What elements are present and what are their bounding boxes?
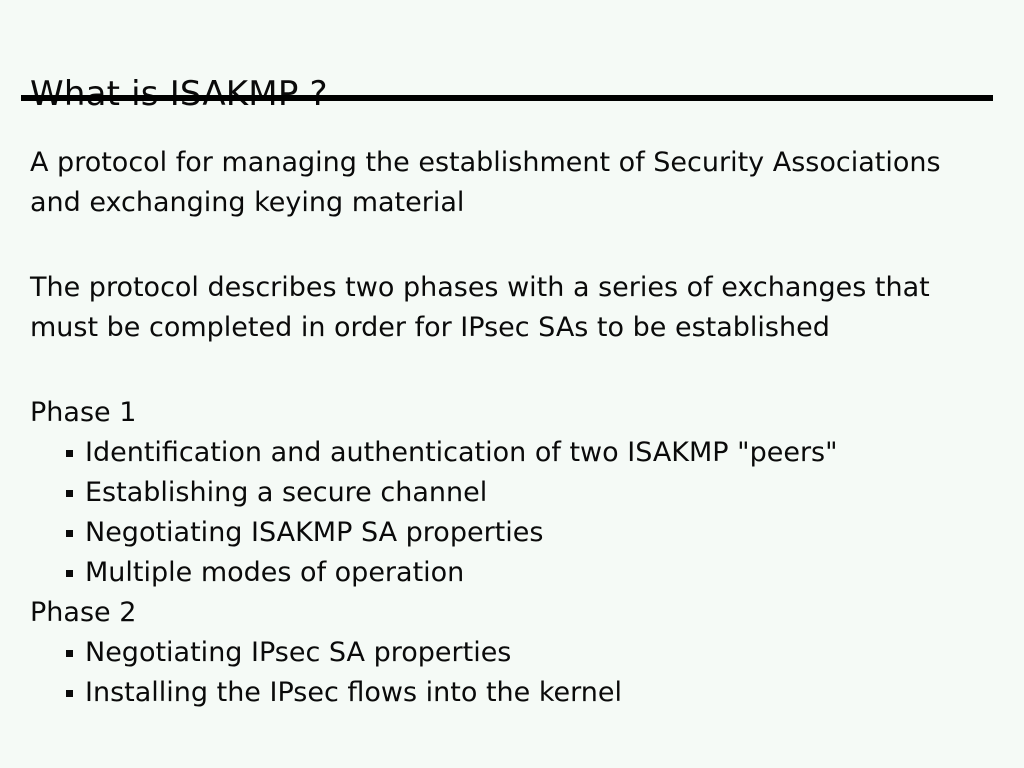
- slide-body: A protocol for managing the establishmen…: [30, 143, 1000, 713]
- phase-1-bullet-list: Identification and authentication of two…: [30, 433, 1000, 593]
- list-item: Negotiating ISAKMP SA properties: [30, 513, 1000, 553]
- list-item-label: Multiple modes of operation: [85, 553, 464, 593]
- square-bullet-icon: [66, 650, 73, 657]
- list-item-label: Establishing a secure channel: [85, 473, 487, 513]
- list-item: Negotiating IPsec SA properties: [30, 633, 1000, 673]
- square-bullet-icon: [66, 490, 73, 497]
- list-item-label: Identification and authentication of two…: [85, 433, 838, 473]
- list-item-label: Negotiating ISAKMP SA properties: [85, 513, 543, 553]
- list-item-label: Negotiating IPsec SA properties: [85, 633, 511, 673]
- phase-2-block: Phase 2 Negotiating IPsec SA properties …: [30, 593, 1000, 713]
- list-item-label: Installing the IPsec flows into the kern…: [85, 673, 622, 713]
- phases-paragraph-line-1: The protocol describes two phases with a…: [30, 268, 1000, 308]
- paragraph-spacer-1: [30, 223, 1000, 268]
- intro-paragraph-line-1: A protocol for managing the establishmen…: [30, 143, 1000, 183]
- title-underline-rule: [21, 95, 993, 101]
- phase-1-heading: Phase 1: [30, 393, 1000, 433]
- list-item: Establishing a secure channel: [30, 473, 1000, 513]
- list-item: Identification and authentication of two…: [30, 433, 1000, 473]
- square-bullet-icon: [66, 450, 73, 457]
- phase-2-heading: Phase 2: [30, 593, 1000, 633]
- intro-paragraph: A protocol for managing the establishmen…: [30, 143, 1000, 223]
- slide: What is ISAKMP ? A protocol for managing…: [0, 0, 1024, 768]
- phases-paragraph-line-2: must be completed in order for IPsec SAs…: [30, 308, 1000, 348]
- list-item: Installing the IPsec flows into the kern…: [30, 673, 1000, 713]
- square-bullet-icon: [66, 570, 73, 577]
- page-title: What is ISAKMP ?: [30, 73, 328, 115]
- phases-paragraph: The protocol describes two phases with a…: [30, 268, 1000, 348]
- list-item: Multiple modes of operation: [30, 553, 1000, 593]
- phase-2-bullet-list: Negotiating IPsec SA properties Installi…: [30, 633, 1000, 713]
- square-bullet-icon: [66, 690, 73, 697]
- square-bullet-icon: [66, 530, 73, 537]
- phase-1-block: Phase 1 Identification and authenticatio…: [30, 393, 1000, 593]
- intro-paragraph-line-2: and exchanging keying material: [30, 183, 1000, 223]
- paragraph-spacer-2: [30, 348, 1000, 393]
